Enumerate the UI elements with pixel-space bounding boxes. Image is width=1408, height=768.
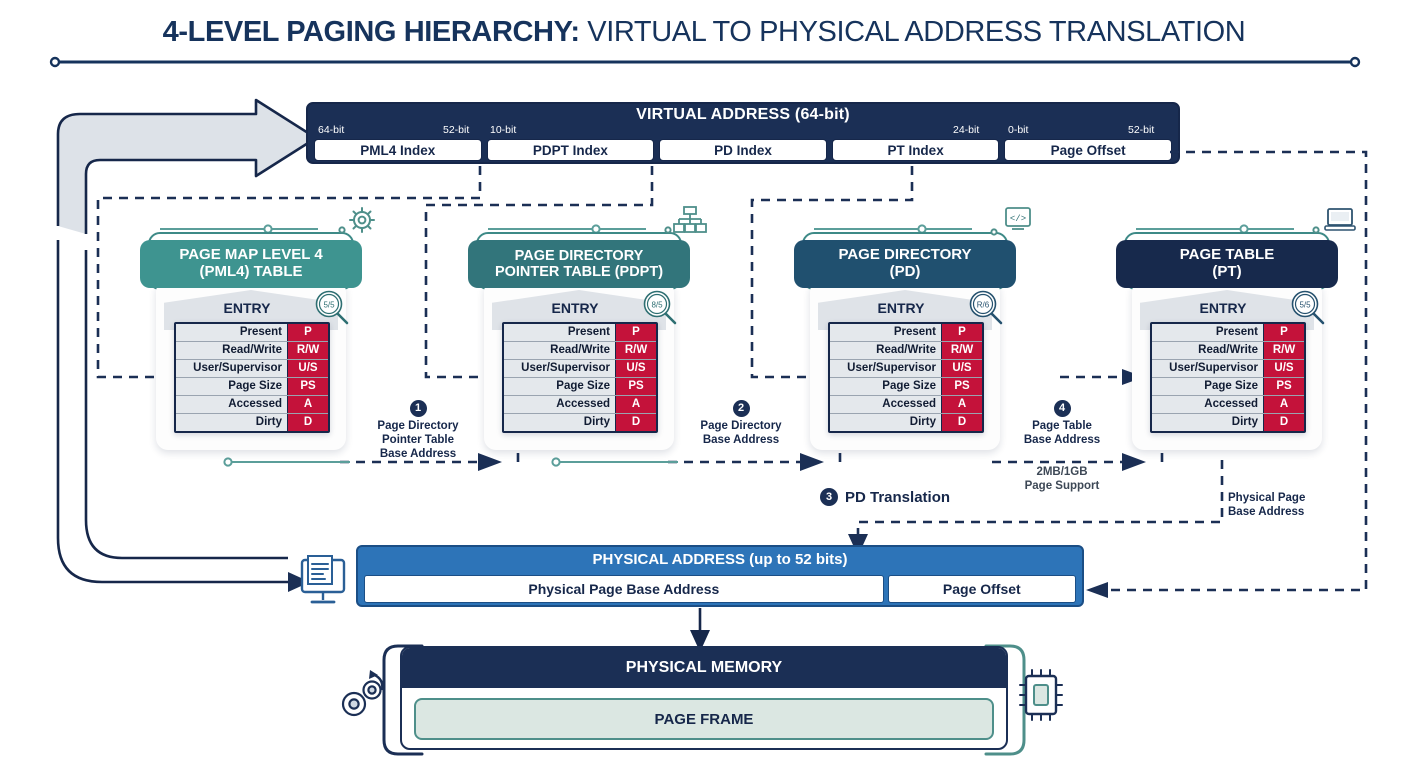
- card-title-line1: PAGE TABLE: [1180, 246, 1274, 263]
- flag-name: Page Size: [176, 378, 287, 395]
- flag-abbr: U/S: [615, 360, 656, 377]
- flag-row: PresentP: [830, 324, 982, 342]
- card-header-pml4: PAGE MAP LEVEL 4(PML4) TABLE: [140, 240, 362, 288]
- entry-caption: ENTRY: [484, 300, 666, 316]
- page-support-line1: 2MB/1GB: [1036, 466, 1087, 478]
- flag-name: User/Supervisor: [176, 360, 287, 377]
- flag-abbr: D: [1263, 414, 1304, 431]
- pd-translation-text: PD Translation: [845, 489, 950, 506]
- flag-abbr: PS: [941, 378, 982, 395]
- cpu-chip-icon: [1014, 666, 1070, 724]
- flag-name: User/Supervisor: [1152, 360, 1263, 377]
- step-number: 3: [820, 488, 838, 506]
- flag-abbr: D: [615, 414, 656, 431]
- physical-page-line1: Physical Page: [1228, 492, 1305, 504]
- physical-memory-box: PHYSICAL MEMORY PAGE FRAME: [400, 646, 1008, 750]
- card-title-line1: PAGE DIRECTORY: [515, 248, 644, 264]
- flag-name: Accessed: [176, 396, 287, 413]
- flag-abbr: R/W: [287, 342, 328, 359]
- magnifier-badge-icon: 5/5: [1288, 288, 1328, 328]
- card-title-line2: (PT): [1212, 263, 1241, 280]
- step-number: 4: [1054, 400, 1071, 417]
- step-line1: Page Directory: [700, 420, 781, 432]
- flag-name: Read/Write: [1152, 342, 1263, 359]
- badge-value: 8/5: [651, 301, 663, 310]
- badge-value: 5/5: [1299, 301, 1311, 310]
- diagram-canvas: 4-LEVEL PAGING HIERARCHY: VIRTUAL TO PHY…: [0, 0, 1408, 768]
- flag-abbr: PS: [615, 378, 656, 395]
- flag-name: Read/Write: [830, 342, 941, 359]
- magnifier-badge-icon: 5/5: [312, 288, 352, 328]
- flag-abbr: R/W: [615, 342, 656, 359]
- card-body-pd: ENTRY R/6 PresentP Read/WriteR/W User/Su…: [810, 280, 1000, 450]
- flag-name: Read/Write: [176, 342, 287, 359]
- flag-abbr: A: [1263, 396, 1304, 413]
- step-line2: Base Address: [703, 434, 779, 446]
- flag-name: Present: [830, 324, 941, 341]
- flag-row: AccessedA: [1152, 396, 1304, 414]
- physical-address-heading: PHYSICAL ADDRESS (up to 52 bits): [358, 551, 1082, 568]
- step-number: 1: [410, 400, 427, 417]
- document-monitor-icon: [292, 556, 352, 610]
- flag-name: Dirty: [830, 414, 941, 431]
- magnifier-badge-icon: R/6: [966, 288, 1006, 328]
- entry-flag-table: PresentP Read/WriteR/W User/SupervisorU/…: [174, 322, 330, 433]
- flag-row: PresentP: [504, 324, 656, 342]
- flag-name: Accessed: [504, 396, 615, 413]
- card-title-line2: POINTER TABLE (PDPT): [495, 264, 663, 280]
- flag-row: DirtyD: [176, 414, 328, 431]
- magnifier-badge-icon: 8/5: [640, 288, 680, 328]
- flag-row: AccessedA: [830, 396, 982, 414]
- hierarchy-icon: [666, 206, 706, 242]
- flag-abbr: U/S: [287, 360, 328, 377]
- badge-value: 5/5: [323, 301, 335, 310]
- flag-row: Read/WriteR/W: [504, 342, 656, 360]
- flag-abbr: D: [941, 414, 982, 431]
- card-title-line1: PAGE MAP LEVEL 4: [179, 246, 322, 263]
- svg-text:</>: </>: [1010, 214, 1026, 224]
- gear-icon: [338, 206, 378, 242]
- flag-name: Present: [176, 324, 287, 341]
- physical-memory-heading: PHYSICAL MEMORY: [402, 648, 1006, 688]
- flag-abbr: D: [287, 414, 328, 431]
- card-deco-line-bottom: [220, 457, 360, 467]
- flag-row: User/SupervisorU/S: [830, 360, 982, 378]
- card-deco-line-bottom: [548, 457, 688, 467]
- flag-row: DirtyD: [1152, 414, 1304, 431]
- physical-page-base-address-note: Physical Page Base Address: [1228, 492, 1348, 520]
- flag-name: Page Size: [830, 378, 941, 395]
- flag-row: PresentP: [1152, 324, 1304, 342]
- flag-row: User/SupervisorU/S: [504, 360, 656, 378]
- flag-row: Page SizePS: [830, 378, 982, 396]
- flag-name: Read/Write: [504, 342, 615, 359]
- flag-abbr: U/S: [1263, 360, 1304, 377]
- flag-row: User/SupervisorU/S: [1152, 360, 1304, 378]
- flag-name: Dirty: [1152, 414, 1263, 431]
- step-line2: Base Address: [1024, 434, 1100, 446]
- pd-translation-label: 3 PD Translation: [820, 488, 950, 506]
- page-frame-block: PAGE FRAME: [414, 698, 994, 740]
- card-body-pdpt: ENTRY 8/5 PresentP Read/WriteR/W User/Su…: [484, 280, 674, 450]
- card-title-line2: (PML4) TABLE: [199, 263, 302, 280]
- flag-abbr: R/W: [1263, 342, 1304, 359]
- flag-abbr: A: [941, 396, 982, 413]
- entry-flag-table: PresentP Read/WriteR/W User/SupervisorU/…: [1150, 322, 1306, 433]
- flag-abbr: PS: [1263, 378, 1304, 395]
- flag-name: Present: [504, 324, 615, 341]
- flag-name: User/Supervisor: [830, 360, 941, 377]
- gears-icon: [332, 664, 394, 726]
- flag-abbr: A: [287, 396, 328, 413]
- step-line1: Page Directory: [377, 420, 458, 432]
- card-title-line1: PAGE DIRECTORY: [838, 246, 971, 263]
- flag-row: Page SizePS: [176, 378, 328, 396]
- flag-row: AccessedA: [504, 396, 656, 414]
- flag-name: Dirty: [176, 414, 287, 431]
- flag-row: PresentP: [176, 324, 328, 342]
- entry-flag-table: PresentP Read/WriteR/W User/SupervisorU/…: [502, 322, 658, 433]
- flag-name: Dirty: [504, 414, 615, 431]
- page-support-line2: Page Support: [1025, 480, 1100, 492]
- pa-segment-base-address[interactable]: Physical Page Base Address: [364, 575, 884, 603]
- page-support-note: 2MB/1GB Page Support: [1002, 466, 1122, 494]
- flag-abbr: U/S: [941, 360, 982, 377]
- flag-name: Accessed: [1152, 396, 1263, 413]
- step-4-label: 4 Page Table Base Address: [1002, 400, 1122, 448]
- flag-name: Present: [1152, 324, 1263, 341]
- flag-abbr: PS: [287, 378, 328, 395]
- step-2-label: 2 Page Directory Base Address: [676, 400, 806, 448]
- entry-caption: ENTRY: [156, 300, 338, 316]
- code-window-icon: </>: [992, 206, 1032, 242]
- card-body-pt: ENTRY 5/5 PresentP Read/WriteR/W User/Su…: [1132, 280, 1322, 450]
- flag-row: AccessedA: [176, 396, 328, 414]
- step-line2: Pointer Table: [382, 434, 454, 446]
- card-header-pdpt: PAGE DIRECTORYPOINTER TABLE (PDPT): [468, 240, 690, 288]
- flag-row: DirtyD: [504, 414, 656, 431]
- entry-caption: ENTRY: [1132, 300, 1314, 316]
- step-1-label: 1 Page Directory Pointer Table Base Addr…: [348, 400, 488, 461]
- step-line1: Page Table: [1032, 420, 1092, 432]
- physical-page-line2: Base Address: [1228, 506, 1304, 518]
- flag-row: Page SizePS: [1152, 378, 1304, 396]
- flag-row: DirtyD: [830, 414, 982, 431]
- flag-row: User/SupervisorU/S: [176, 360, 328, 378]
- flag-name: User/Supervisor: [504, 360, 615, 377]
- step-line3: Base Address: [380, 448, 456, 460]
- flag-name: Page Size: [504, 378, 615, 395]
- step-number: 2: [733, 400, 750, 417]
- card-header-pd: PAGE DIRECTORY(PD): [794, 240, 1016, 288]
- flag-row: Read/WriteR/W: [1152, 342, 1304, 360]
- flag-row: Page SizePS: [504, 378, 656, 396]
- flag-row: Read/WriteR/W: [176, 342, 328, 360]
- flag-name: Page Size: [1152, 378, 1263, 395]
- flag-name: Accessed: [830, 396, 941, 413]
- flag-row: Read/WriteR/W: [830, 342, 982, 360]
- badge-value: R/6: [977, 301, 990, 310]
- card-body-pml4: ENTRY 5/5 PresentP Read/WriteR/W User/Su…: [156, 280, 346, 450]
- physical-address-bar: PHYSICAL ADDRESS (up to 52 bits) Physica…: [356, 545, 1084, 607]
- flag-abbr: A: [615, 396, 656, 413]
- card-header-pt: PAGE TABLE(PT): [1116, 240, 1338, 288]
- entry-caption: ENTRY: [810, 300, 992, 316]
- card-title-line2: (PD): [890, 263, 921, 280]
- entry-flag-table: PresentP Read/WriteR/W User/SupervisorU/…: [828, 322, 984, 433]
- laptop-icon: [1314, 206, 1354, 242]
- pa-segment-page-offset[interactable]: Page Offset: [888, 575, 1076, 603]
- flag-abbr: R/W: [941, 342, 982, 359]
